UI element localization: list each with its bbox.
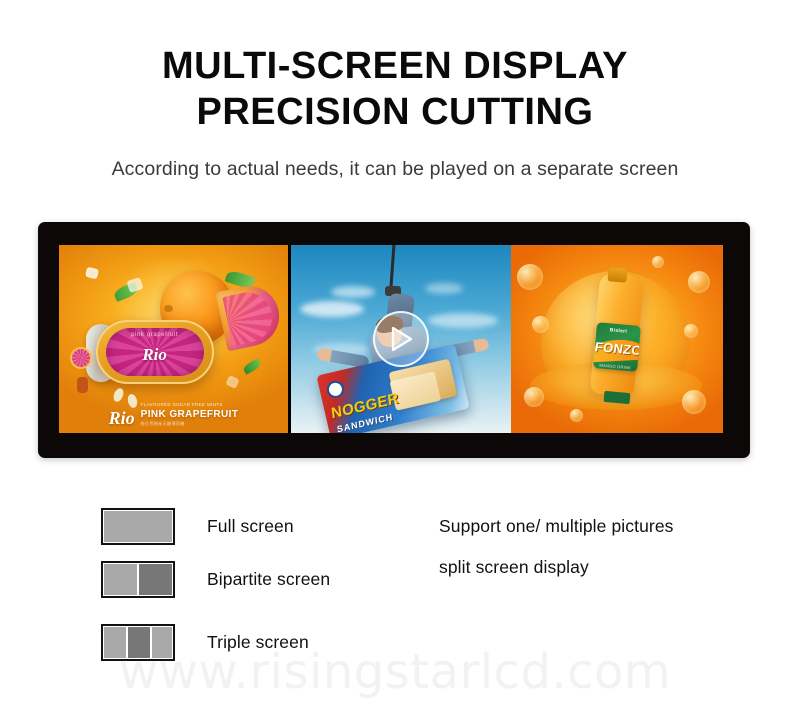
rio-caption: Rio FLAVOURED SUGAR FREE MINTS PINK GRAP… xyxy=(59,402,288,427)
legend-item-triple-screen[interactable]: Triple screen xyxy=(101,623,461,661)
fonzo-bottle-label: Bisleri FONZO MANGO DRINK xyxy=(593,322,641,372)
legend-item-full-screen[interactable]: Full screen xyxy=(101,507,461,545)
display-monitor-bezel: pink grapefruit Rio Rio FLAVOURED SUGAR … xyxy=(38,222,750,458)
cloud-graphic xyxy=(425,283,463,294)
bottle-cap-graphic xyxy=(607,267,627,283)
juice-bubble-graphic xyxy=(684,324,698,338)
page-title-line-1: MULTI-SCREEN DISPLAY xyxy=(0,44,790,88)
legend-label-triple-screen: Triple screen xyxy=(207,632,309,653)
three-pane-icon xyxy=(101,624,175,661)
juice-bubble-graphic xyxy=(652,256,664,268)
support-note: Support one/ multiple pictures split scr… xyxy=(439,518,759,576)
support-note-line-1: Support one/ multiple pictures xyxy=(439,518,759,536)
legend-label-full-screen: Full screen xyxy=(207,516,294,537)
juice-bubble-graphic xyxy=(524,387,544,407)
page-title-line-2: PRECISION CUTTING xyxy=(0,90,790,134)
legend-label-bipartite-screen: Bipartite screen xyxy=(207,569,330,590)
header: MULTI-SCREEN DISPLAY PRECISION CUTTING A… xyxy=(0,0,790,181)
ad-panel-rio[interactable]: pink grapefruit Rio Rio FLAVOURED SUGAR … xyxy=(59,245,288,433)
rio-headline: PINK GRAPEFRUIT xyxy=(141,408,239,421)
bisleri-brand-text: Bisleri xyxy=(596,326,640,336)
support-note-line-2: split screen display xyxy=(439,559,759,577)
rio-pack-logo: Rio xyxy=(98,345,212,365)
ad-panel-fonzo[interactable]: Bisleri FONZO MANGO DRINK xyxy=(511,245,723,433)
legend-item-bipartite-screen[interactable]: Bipartite screen xyxy=(101,560,461,598)
rio-brand-script: Rio xyxy=(109,409,135,427)
rio-pack-subtext: pink grapefruit xyxy=(98,332,212,338)
single-pane-icon xyxy=(101,508,175,545)
mascot-leg-graphic xyxy=(77,377,88,393)
play-button-icon[interactable] xyxy=(373,311,429,367)
juice-bubble-graphic xyxy=(517,264,543,290)
cloud-graphic xyxy=(428,313,498,328)
brand-heart-icon xyxy=(325,380,345,400)
legend: Full screen Bipartite screen Triple scre… xyxy=(101,507,461,661)
page-subtitle: According to actual needs, it can be pla… xyxy=(0,158,790,181)
display-screen: pink grapefruit Rio Rio FLAVOURED SUGAR … xyxy=(59,245,723,433)
rio-subcaption: 粉红西柚味无糖薄荷糖 xyxy=(141,421,239,427)
bottle-label-tag xyxy=(604,391,631,404)
page-root: MULTI-SCREEN DISPLAY PRECISION CUTTING A… xyxy=(0,0,790,707)
rio-product-pack: pink grapefruit Rio xyxy=(96,320,214,384)
fonzo-headline-text: FONZO xyxy=(594,339,640,358)
ad-panel-nogger[interactable]: NOGGER SANDWICH xyxy=(291,245,511,433)
two-pane-icon xyxy=(101,561,175,598)
rio-caption-block: FLAVOURED SUGAR FREE MINTS PINK GRAPEFRU… xyxy=(141,402,239,427)
grapefruit-mascot-graphic xyxy=(70,347,92,369)
